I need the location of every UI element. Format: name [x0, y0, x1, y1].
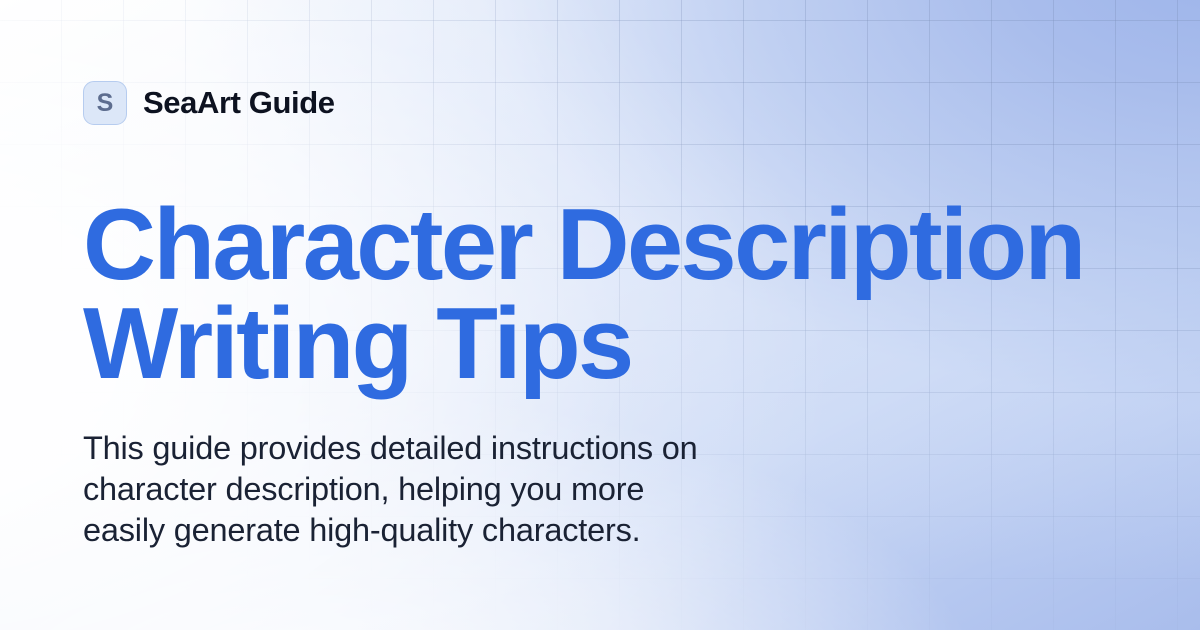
- page-subtitle: This guide provides detailed instruction…: [83, 428, 923, 551]
- og-banner-card: S SeaArt Guide Character Description Wri…: [0, 0, 1200, 630]
- page-subtitle-line-2: character description, helping you more: [83, 469, 923, 510]
- brand-lockup: S SeaArt Guide: [83, 81, 335, 125]
- page-subtitle-line-3: easily generate high-quality characters.: [83, 510, 923, 551]
- page-title: Character Description Writing Tips: [83, 196, 1093, 394]
- page-subtitle-line-1: This guide provides detailed instruction…: [83, 428, 923, 469]
- seaart-logo-icon: S: [83, 81, 127, 125]
- brand-name: SeaArt Guide: [143, 85, 335, 121]
- banner-content: S SeaArt Guide Character Description Wri…: [83, 0, 1123, 630]
- page-title-line-2: Writing Tips: [83, 295, 1093, 394]
- page-title-line-1: Character Description: [83, 196, 1093, 295]
